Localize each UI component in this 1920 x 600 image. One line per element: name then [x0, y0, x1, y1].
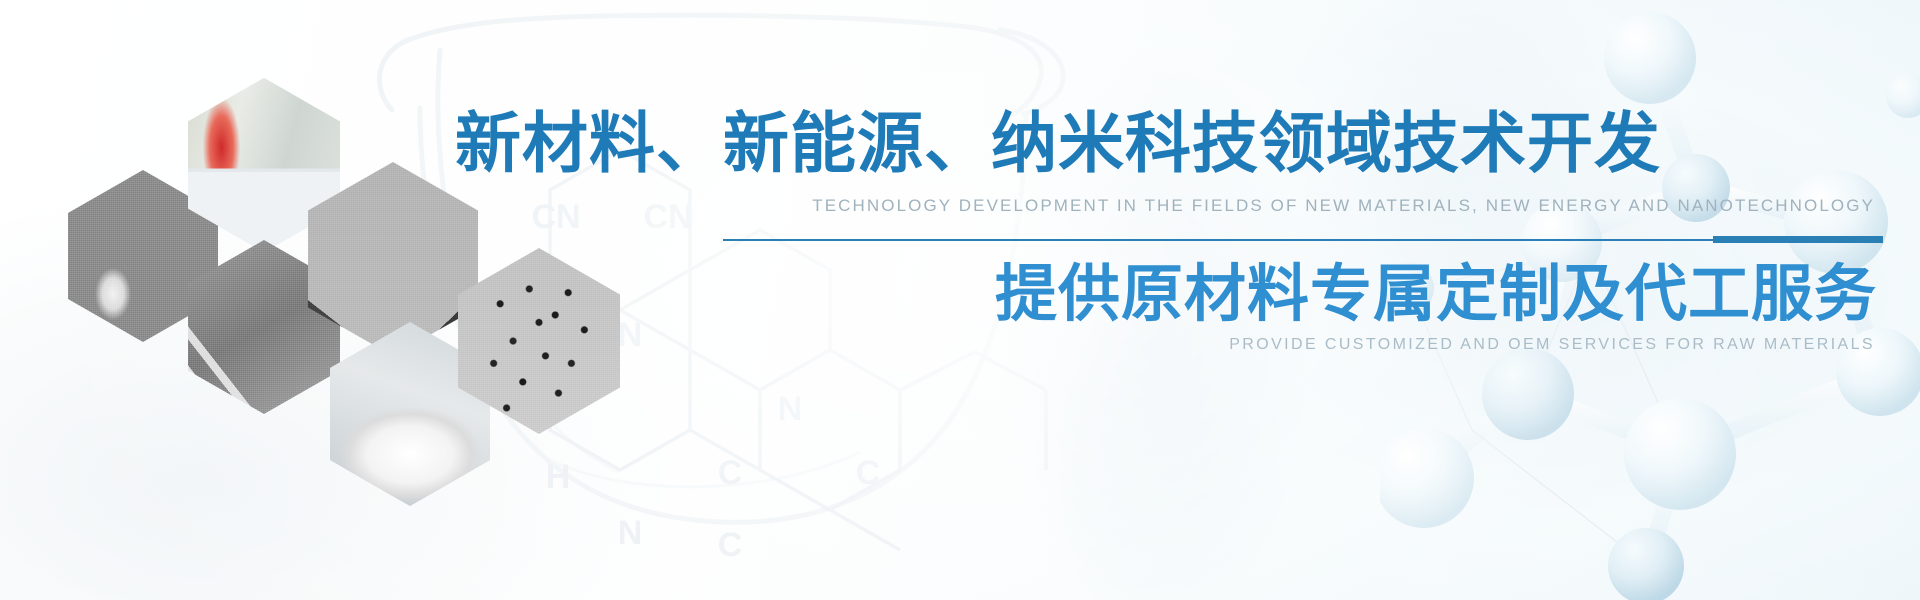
- subtitle-secondary: PROVIDE CUSTOMIZED AND OEM SERVICES FOR …: [1229, 336, 1875, 354]
- headline-primary: 新材料、新能源、纳米科技领域技术开发: [455, 110, 1885, 176]
- hero-banner: CN CN N N C C H N C: [0, 0, 1920, 600]
- subtitle-primary: TECHNOLOGY DEVELOPMENT IN THE FIELDS OF …: [812, 196, 1875, 216]
- divider-accent-bar: [1713, 236, 1883, 243]
- divider-thin-rule: [723, 239, 1723, 241]
- headline-secondary: 提供原材料专属定制及代工服务: [995, 264, 1877, 326]
- banner-copy-block: 新材料、新能源、纳米科技领域技术开发 TECHNOLOGY DEVELOPMEN…: [455, 0, 1885, 600]
- divider: [723, 236, 1883, 243]
